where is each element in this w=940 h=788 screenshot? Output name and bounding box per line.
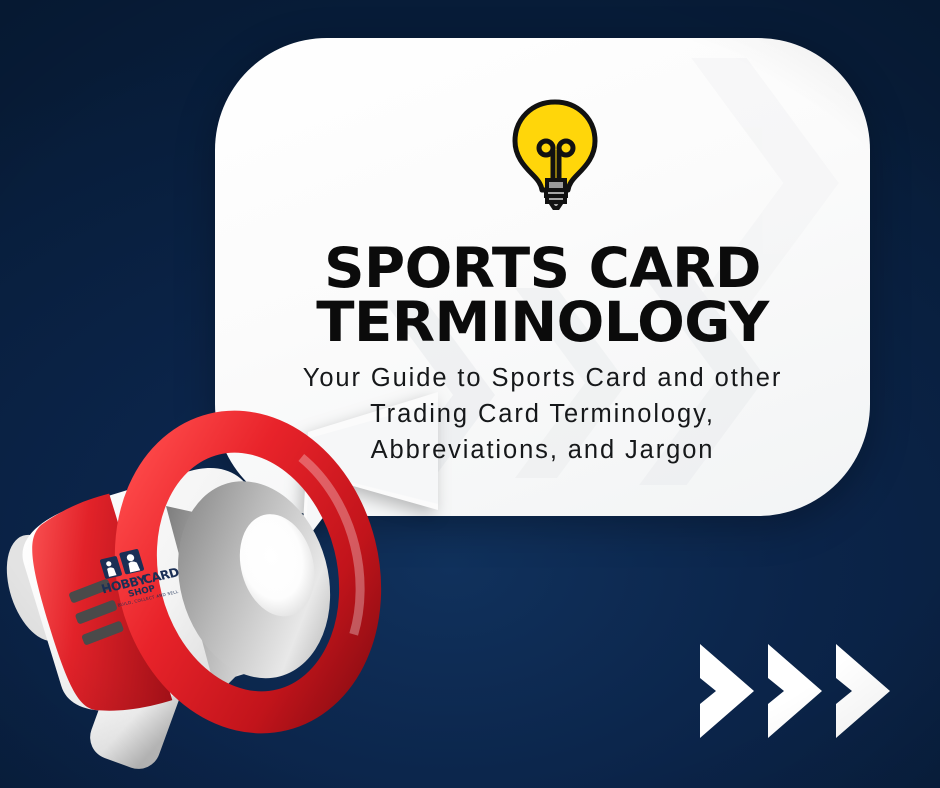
- title-line-2: TERMINOLOGY: [208, 296, 876, 350]
- lightbulb-icon: [496, 92, 614, 210]
- chevron-right-icon-3: [834, 642, 892, 740]
- page-subtitle: Your Guide to Sports Card and other Trad…: [230, 360, 855, 469]
- poster-canvas: HOBBY CARD SHOP BUILD, COLLECT AND SELL: [0, 0, 940, 788]
- svg-text:CARD: CARD: [141, 565, 181, 587]
- chevron-right-icon-2: [766, 642, 824, 740]
- triple-chevron-right-icon: [698, 642, 892, 740]
- chevron-right-icon-1: [698, 642, 756, 740]
- page-title: SPORTS CARD TERMINOLOGY: [208, 242, 876, 350]
